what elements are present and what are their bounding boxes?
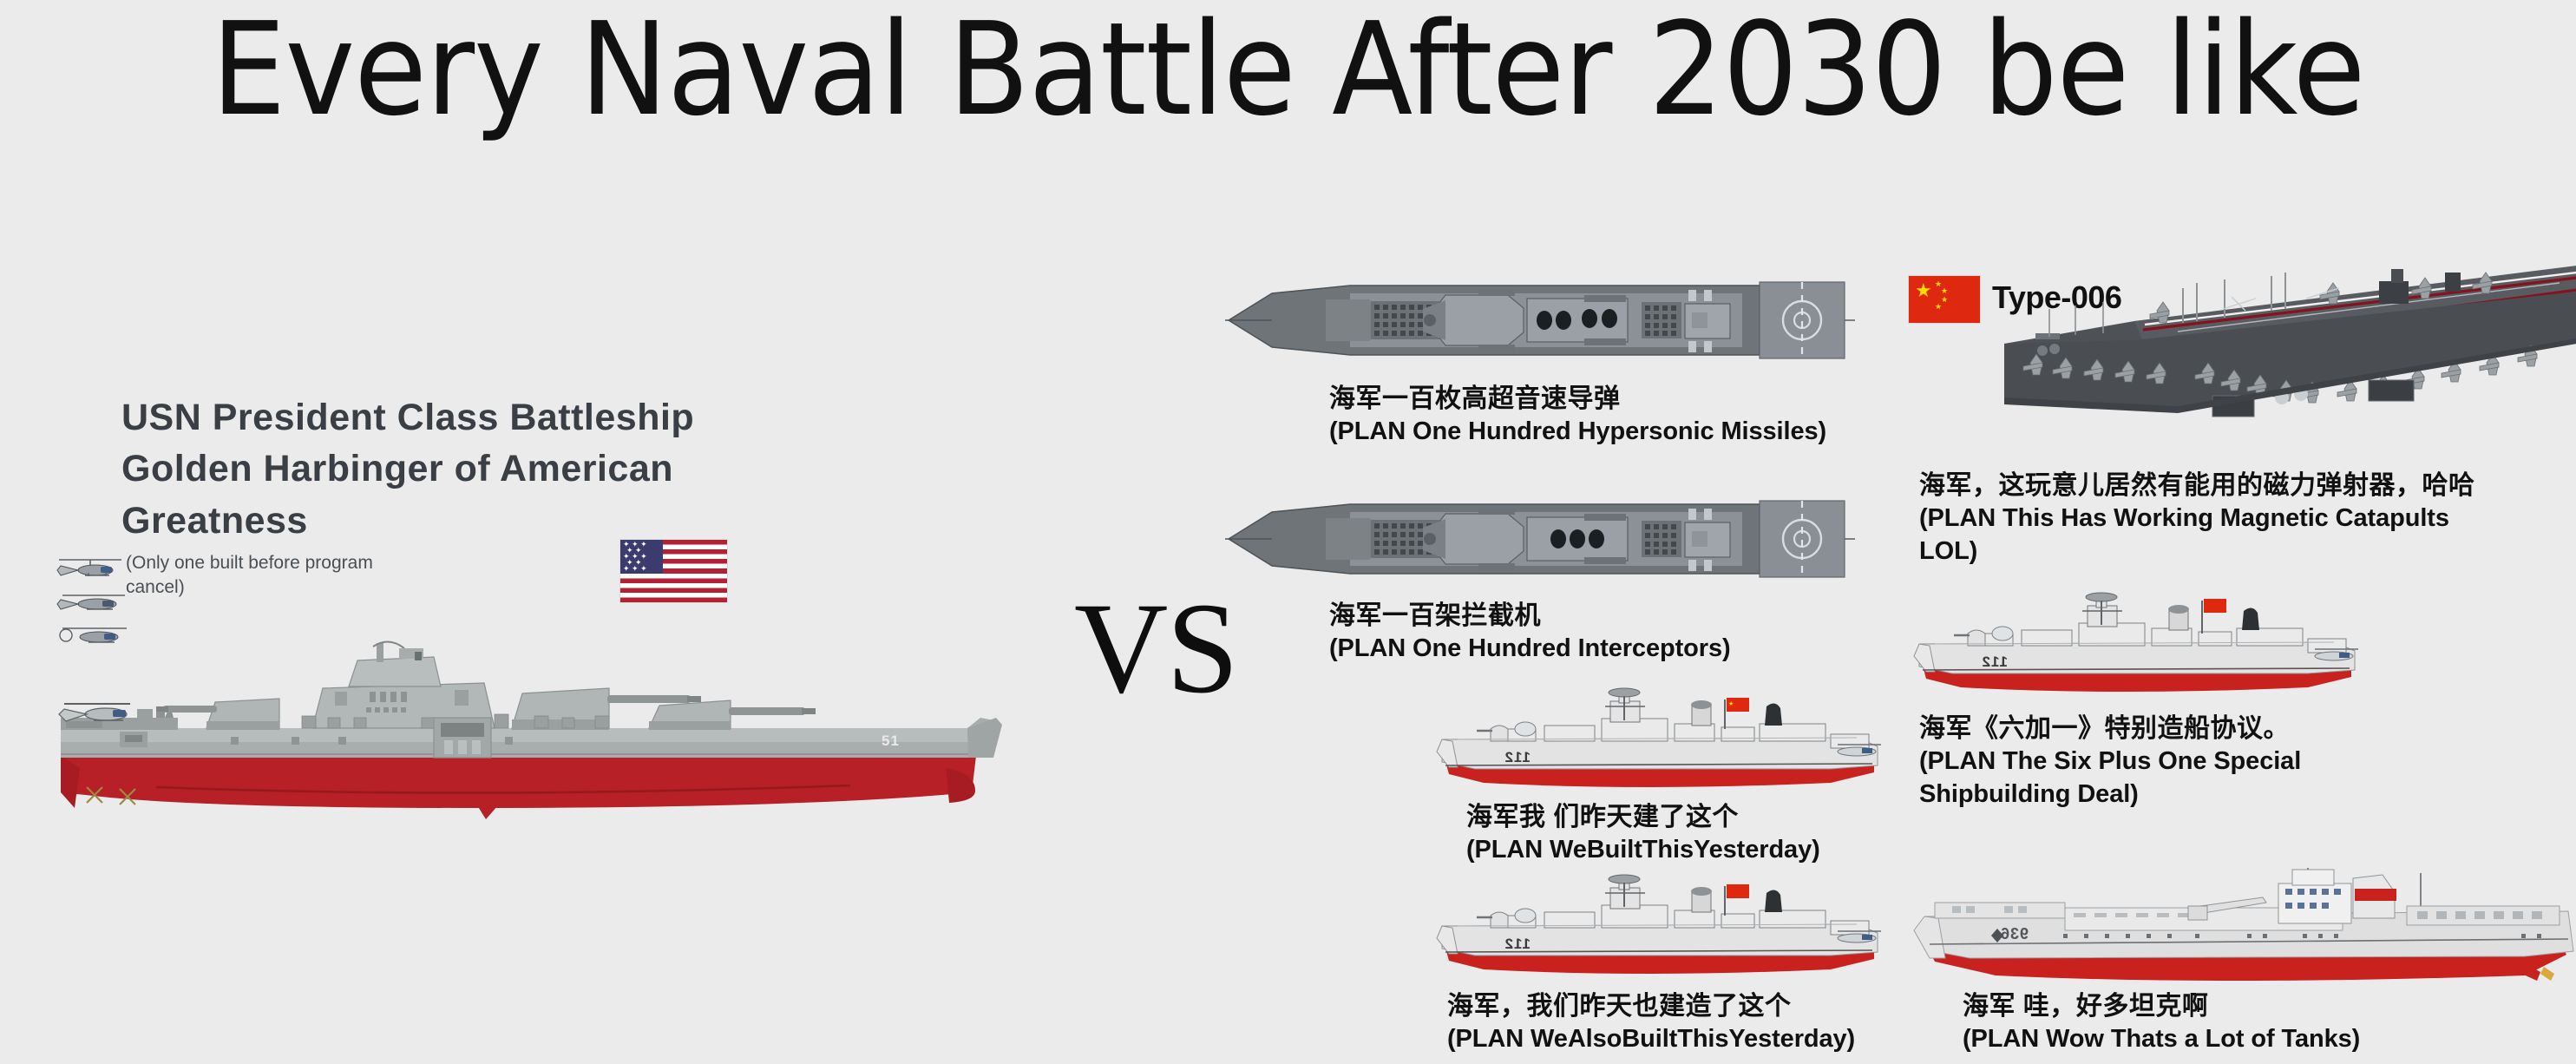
svg-text:112: 112	[1982, 654, 2008, 670]
meme-title: Every Naval Battle After 2030 be like	[103, 5, 2473, 134]
label-cn: 海军，这玩意儿居然有能用的磁力弹射器，哈哈	[1919, 469, 2509, 502]
label-six-plus-one-deal: 海军《六加一》特别造船协议。 (PLAN The Six Plus One Sp…	[1919, 712, 2457, 811]
helicopter-icon	[52, 552, 130, 581]
label-cn: 海军一百枚高超音速导弹	[1329, 382, 1884, 416]
label-en: (PLAN WeAlsoBuiltThisYesterday)	[1447, 1023, 2020, 1056]
usn-ship-title-line-2: Golden Harbinger of American	[121, 443, 833, 495]
topdown-cruiser-illustration	[1222, 496, 1855, 581]
usn-ship-title-line-1: USN President Class Battleship	[121, 392, 833, 443]
label-interceptors: 海军一百架拦截机 (PLAN One Hundred Interceptors)	[1329, 599, 1884, 666]
plan-destroyer-illustration: ★ 112	[1423, 686, 1909, 807]
usn-program-note: (Only one built before program cancel)	[126, 551, 377, 599]
usn-ship-title: USN President Class Battleship Golden Ha…	[121, 392, 833, 547]
svg-text:112: 112	[1504, 936, 1531, 952]
us-flag-icon: ✦ ✦ ✦ ✦ ✦ ✦ ✦ ✦ ✦ ✦ ✦ ✦ ✦	[620, 540, 727, 602]
label-lots-of-tanks: 海军 哇，好多坦克啊 (PLAN Wow Thats a Lot of Tank…	[1963, 989, 2518, 1056]
label-cn: 海军 哇，好多坦克啊	[1963, 989, 2518, 1023]
label-en: (PLAN WeBuiltThisYesterday)	[1466, 834, 2022, 867]
china-flag-icon: ★ ★ ★ ★ ★	[1909, 276, 1980, 323]
plan-destroyer-illustration: 112	[1900, 590, 2386, 712]
label-en: (PLAN This Has Working Magnetic Catapult…	[1919, 502, 2509, 568]
label-en: (PLAN Wow Thats a Lot of Tanks)	[1963, 1023, 2518, 1056]
label-en: (PLAN The Six Plus One Special Shipbuild…	[1919, 745, 2457, 811]
plan-landing-ship-illustration: 936	[1900, 868, 2576, 1007]
svg-text:112: 112	[1504, 749, 1531, 765]
label-hypersonic-missiles: 海军一百枚高超音速导弹 (PLAN One Hundred Hypersonic…	[1329, 382, 1884, 449]
label-magnetic-catapults: 海军，这玩意儿居然有能用的磁力弹射器，哈哈 (PLAN This Has Wor…	[1919, 469, 2509, 568]
svg-text:51: 51	[882, 732, 900, 749]
helicopter-icon	[54, 587, 132, 616]
svg-text:★: ★	[1728, 700, 1734, 707]
type-006-carrier-illustration	[2004, 260, 2576, 434]
versus-label: VS	[1074, 583, 1237, 713]
label-en: (PLAN One Hundred Interceptors)	[1329, 633, 1884, 666]
label-en: (PLAN One Hundred Hypersonic Missiles)	[1329, 416, 1884, 449]
label-cn: 海军《六加一》特别造船协议。	[1919, 712, 2457, 745]
plan-destroyer-illustration: 112	[1423, 872, 1909, 994]
label-cn: 海军一百架拦截机	[1329, 599, 1884, 633]
topdown-cruiser-illustration	[1222, 278, 1855, 363]
svg-text:936: 936	[2000, 925, 2029, 942]
meme-canvas: Every Naval Battle After 2030 be like US…	[0, 0, 2576, 1064]
usn-battleship-illustration: 51	[26, 638, 1032, 837]
